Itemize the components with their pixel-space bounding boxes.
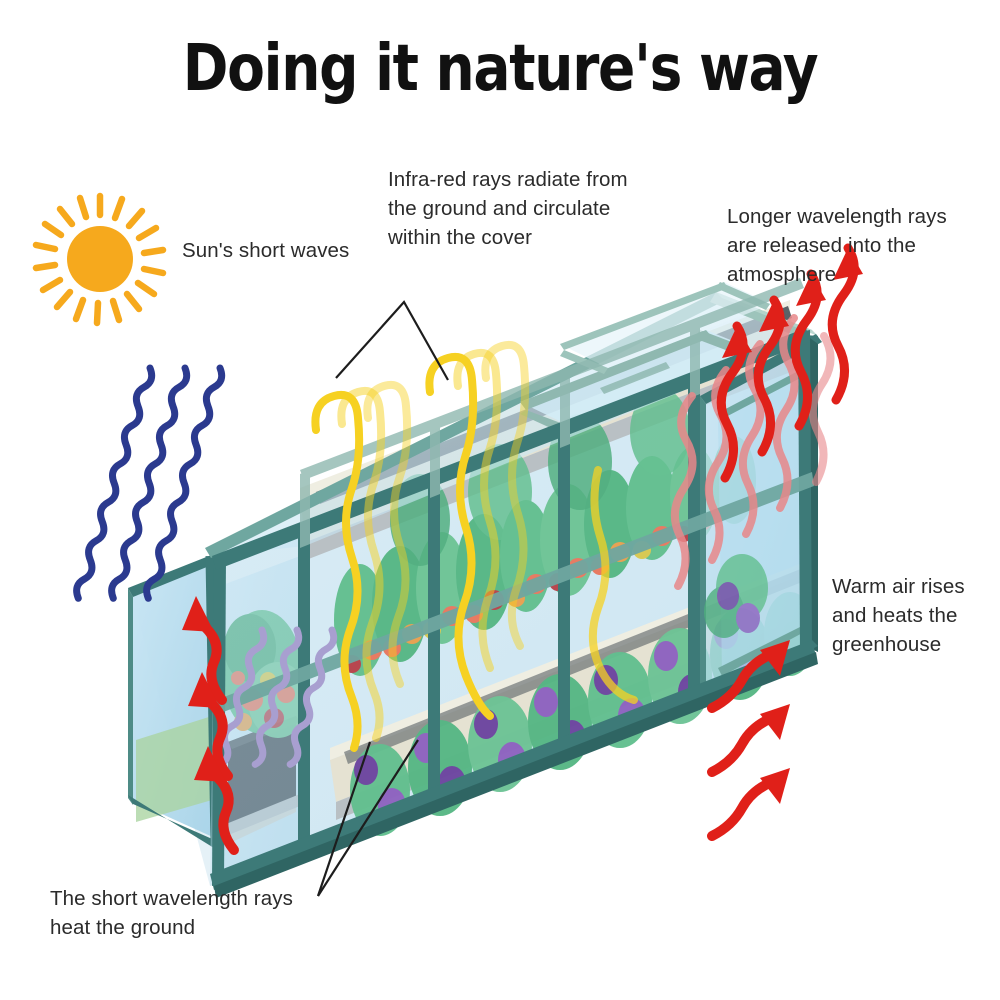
infographic-canvas: Doing it nature's way Sun's short waves … xyxy=(0,0,1000,1000)
caption-sun-short-waves: Sun's short waves xyxy=(182,236,352,265)
sun-icon xyxy=(0,0,1000,1000)
page-title: Doing it nature's way xyxy=(70,36,930,103)
caption-longer-wavelength: Longer wavelength rays are released into… xyxy=(727,202,977,289)
caption-warm-air: Warm air rises and heats the greenhouse xyxy=(832,572,1000,659)
caption-infrared-rays: Infra-red rays radiate from the ground a… xyxy=(388,165,628,252)
caption-short-wavelength-ground: The short wavelength rays heat the groun… xyxy=(50,884,320,942)
